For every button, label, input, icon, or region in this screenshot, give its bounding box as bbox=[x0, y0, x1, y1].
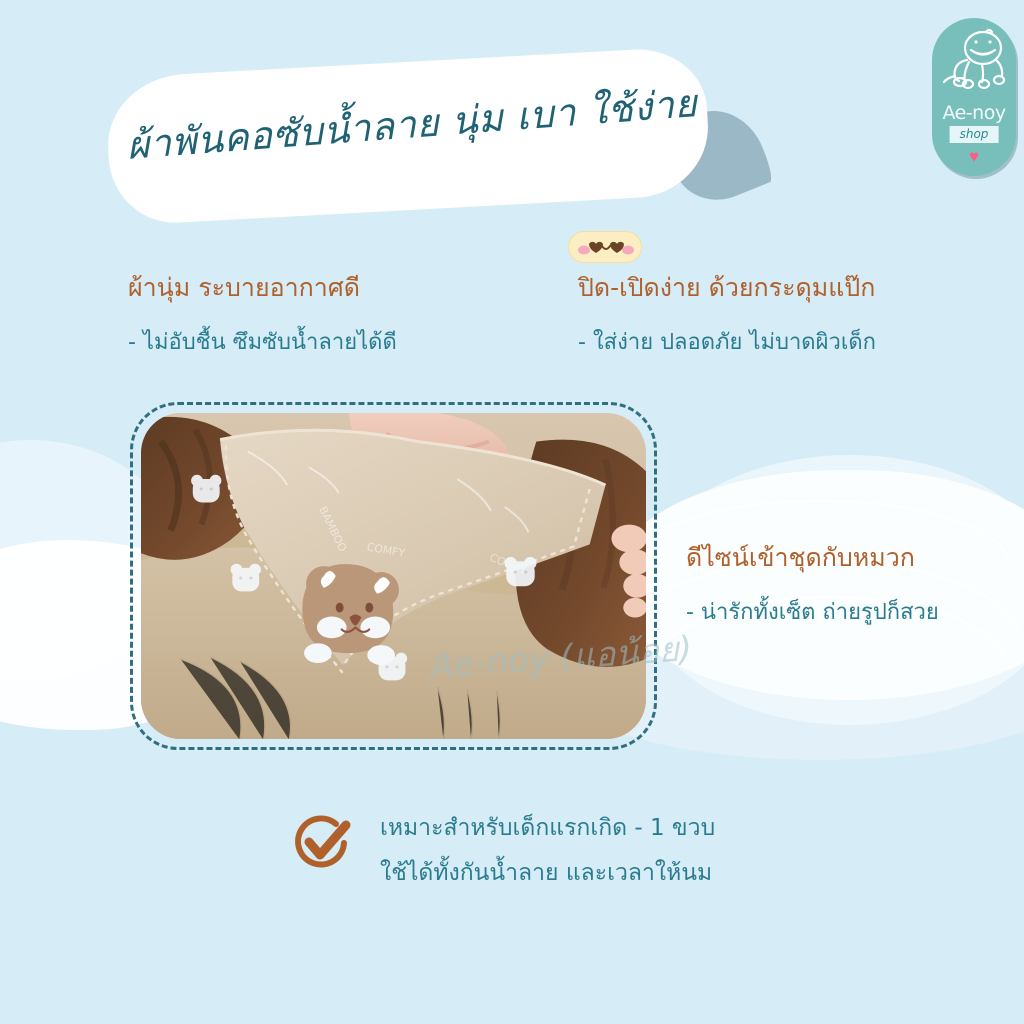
check-circle-icon bbox=[292, 812, 354, 879]
product-photo-frame: BAMBOO COMFY COMFY bbox=[130, 402, 657, 750]
bottom-benefit-line-2: ใช้ได้ทั้งกันน้ำลาย และเวลาให้นม bbox=[380, 851, 715, 896]
feature-heading: ปิด-เปิดง่าย ด้วยกระดุมแป๊ก bbox=[578, 268, 876, 308]
product-photo-illustration: BAMBOO COMFY COMFY bbox=[141, 413, 646, 739]
feature-subtext: - น่ารักทั้งเซ็ต ถ่ายรูปก็สวย bbox=[686, 594, 939, 629]
feature-heading: ดีไซน์เข้าชุดกับหมวก bbox=[686, 538, 939, 578]
bottom-benefit-line-1: เหมาะสำหรับเด็กแรกเกิด - 1 ขวบ bbox=[380, 806, 715, 851]
brand-shop-label: shop bbox=[950, 126, 999, 143]
cute-face-sticker bbox=[568, 231, 642, 263]
check-circle-icon-glyph bbox=[292, 812, 354, 874]
feature-subtext: - ใส่ง่าย ปลอดภัย ไม่บาดผิวเด็ก bbox=[578, 324, 876, 359]
feature-block-matching-design: ดีไซน์เข้าชุดกับหมวก - น่ารักทั้งเซ็ต ถ่… bbox=[686, 538, 939, 629]
brand-logo-badge[interactable]: Ae-noy shop ♥ bbox=[932, 18, 1016, 176]
feature-block-snap-button: ปิด-เปิดง่าย ด้วยกระดุมแป๊ก - ใส่ง่าย ปล… bbox=[578, 268, 876, 359]
heart-icon: ♥ bbox=[969, 148, 979, 165]
cute-face-sticker-glyph bbox=[569, 232, 643, 264]
bottom-benefit-text: เหมาะสำหรับเด็กแรกเกิด - 1 ขวบ ใช้ได้ทั้… bbox=[380, 806, 715, 896]
bear-face-print bbox=[302, 564, 399, 665]
crawling-baby-icon bbox=[940, 26, 1008, 104]
feature-subtext: - ไม่อับชื้น ซึมซับน้ำลายได้ดี bbox=[128, 324, 397, 359]
feature-block-soft-fabric: ผ้านุ่ม ระบายอากาศดี - ไม่อับชื้น ซึมซับ… bbox=[128, 268, 397, 359]
brand-name: Ae-noy bbox=[932, 102, 1016, 124]
feature-heading: ผ้านุ่ม ระบายอากาศดี bbox=[128, 268, 397, 308]
product-photo: BAMBOO COMFY COMFY bbox=[141, 413, 646, 739]
